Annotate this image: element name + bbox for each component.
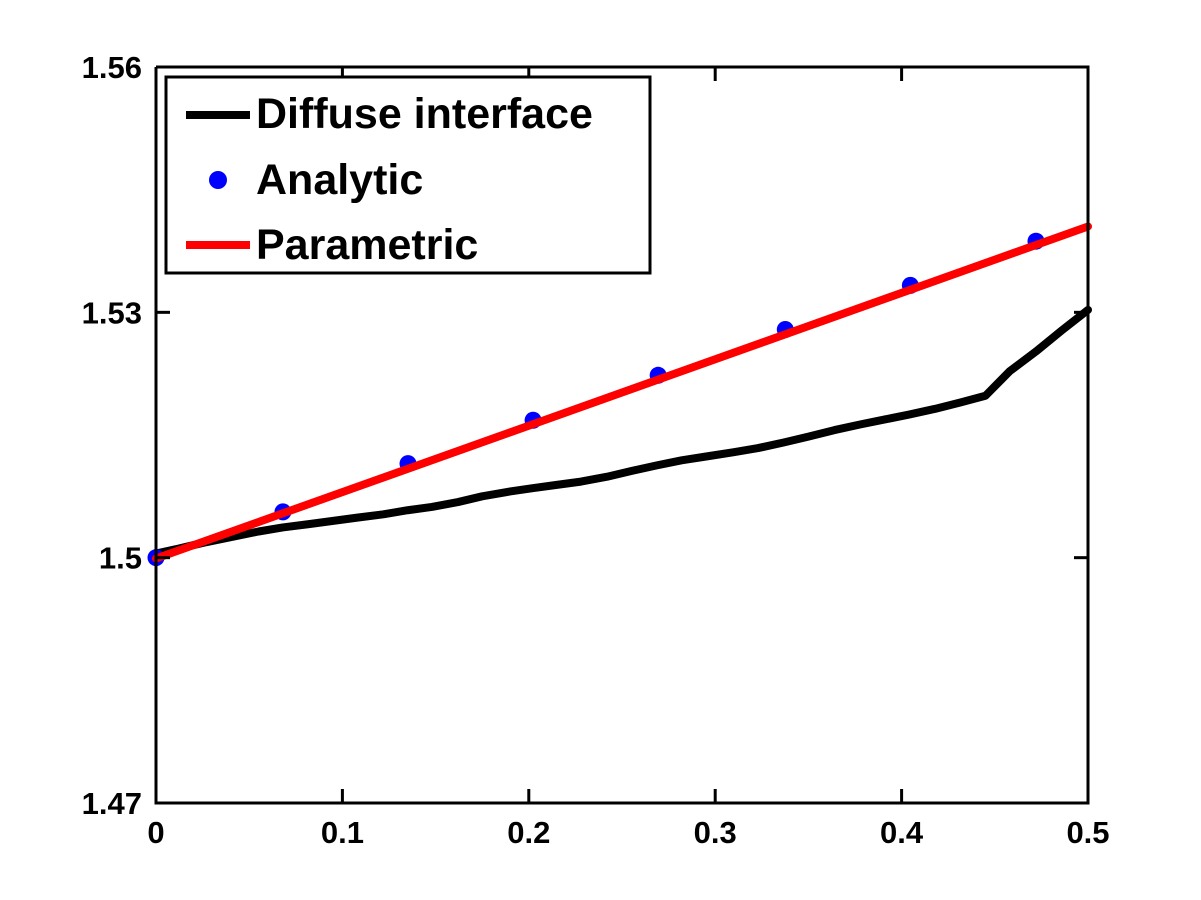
legend-label-analytic: Analytic: [256, 156, 423, 204]
y-tick-label: 1.47: [82, 786, 142, 821]
x-tick-label: 0.4: [880, 815, 924, 850]
x-tick-label: 0: [147, 815, 164, 850]
x-tick-label: 0.1: [321, 815, 364, 850]
x-tick-label: 0.3: [694, 815, 737, 850]
plot-canvas: 00.10.20.30.40.51.471.51.531.56 Diffuse …: [0, 0, 1201, 900]
legend-swatch-dot-blue: [209, 171, 227, 189]
x-tick-label: 0.2: [507, 815, 550, 850]
legend[interactable]: Diffuse interface Analytic Parametric: [166, 77, 650, 273]
chart-figure: 00.10.20.30.40.51.471.51.531.56 Diffuse …: [0, 0, 1201, 900]
legend-label-diffuse-interface: Diffuse interface: [256, 90, 593, 138]
x-tick-label: 0.5: [1066, 815, 1109, 850]
legend-label-parametric: Parametric: [256, 221, 478, 269]
y-tick-label: 1.5: [99, 541, 142, 576]
y-tick-label: 1.53: [82, 295, 142, 330]
y-tick-label: 1.56: [82, 50, 142, 85]
